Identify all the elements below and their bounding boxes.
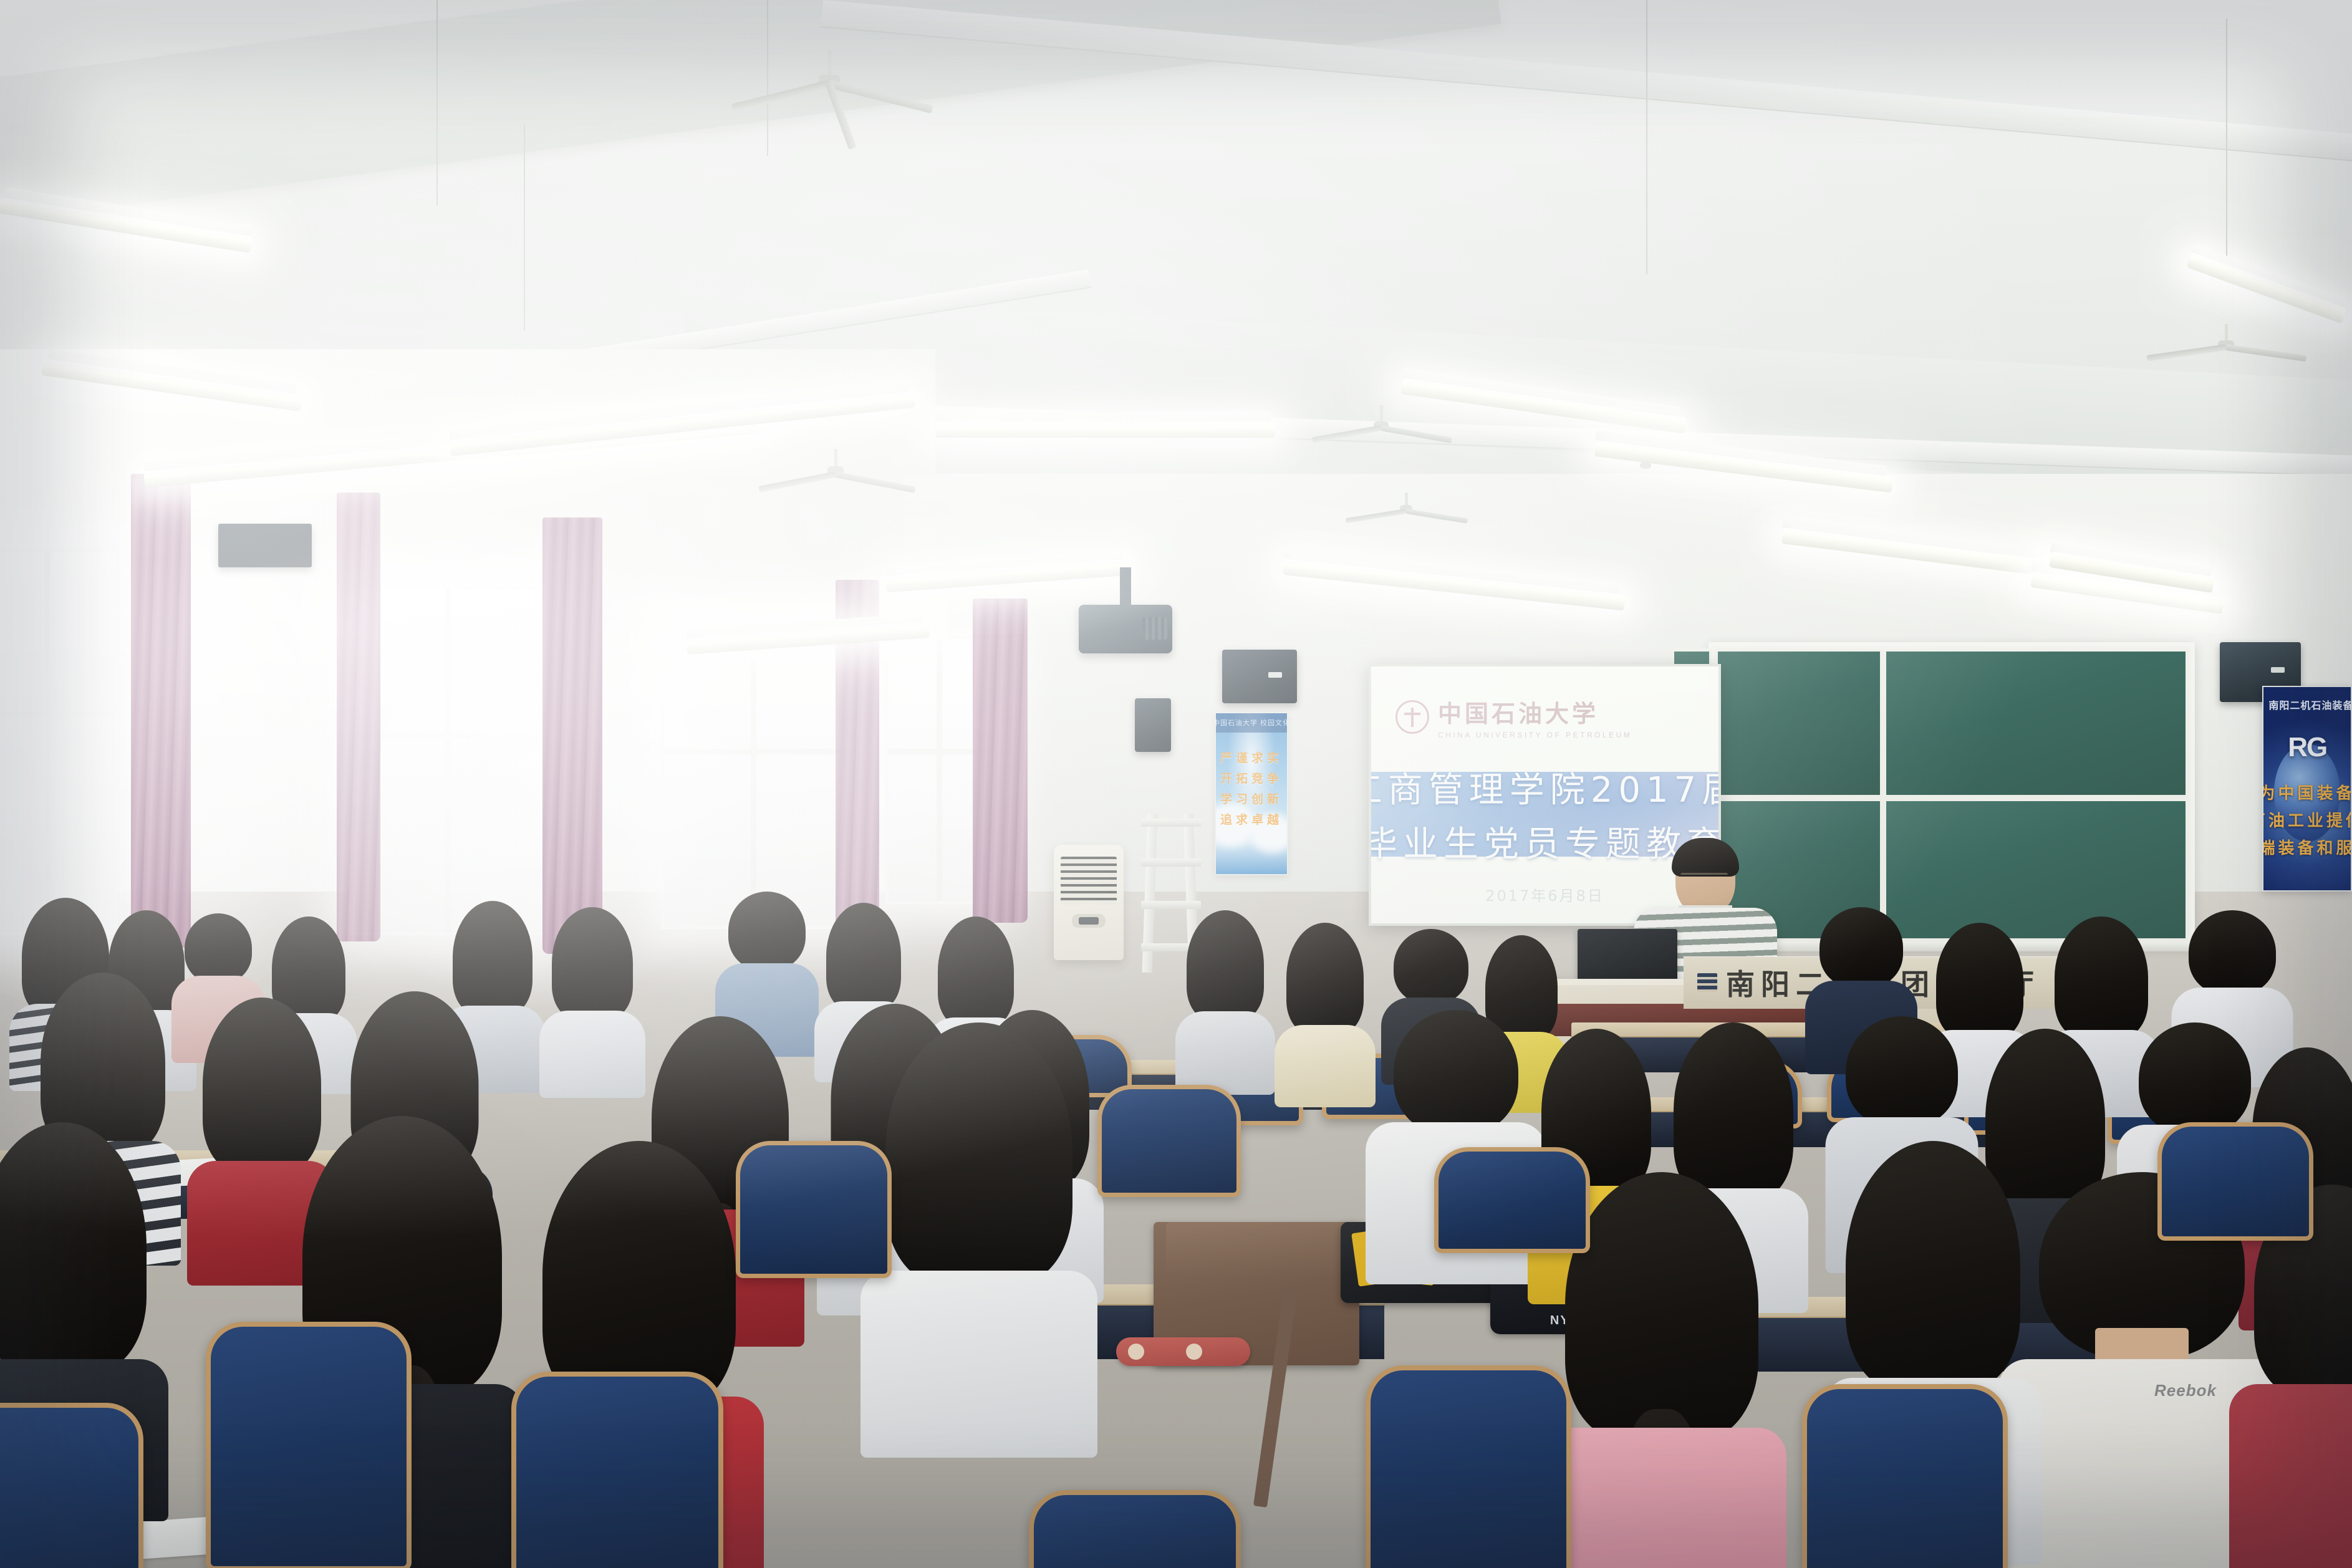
ceiling-fan-5 [1359, 493, 1453, 549]
presenter-hair [1672, 838, 1739, 877]
person-hair [185, 913, 252, 983]
person-hair [1846, 1016, 1958, 1127]
audience-person-far-10 [1185, 910, 1266, 1060]
chair-front-6[interactable] [1029, 1490, 1241, 1568]
university-crest-icon [1395, 700, 1429, 734]
ladder-step [1141, 901, 1201, 909]
wall-speaker-center [1135, 698, 1171, 752]
projector-lens [1142, 617, 1167, 640]
light-wire-2 [1646, 0, 1647, 274]
air-conditioner [1054, 845, 1124, 960]
chair-mid-1[interactable] [736, 1141, 892, 1278]
slide-logo-text: 中国石油大学 CHINA UNIVERSITY OF PETROLEUM [1438, 695, 1632, 739]
poster-campus-culture: 中国石油大学 校园文化 严谨求实 开拓竞争 学习创新 追求卓越 [1215, 712, 1288, 875]
ac-vents [1061, 857, 1117, 905]
light-wire-4 [524, 125, 525, 330]
ceiling-fan-2 [779, 449, 892, 517]
audience-person-front-4 [879, 1022, 1079, 1409]
person-hair [1819, 907, 1903, 988]
poster-rg-equipment: 南阳二机石油装备（集团） RG 为中国装备 石油工业提供 高端装备和服务 [2262, 686, 2352, 892]
person-hair [1394, 929, 1468, 1004]
projector-mount [1120, 567, 1131, 606]
wall-speaker-left [1222, 650, 1297, 703]
poster-right-brand-big: RG [2288, 732, 2326, 763]
person-body [1175, 1011, 1275, 1095]
chair-mid-4[interactable] [2157, 1122, 2313, 1241]
blackboard-panel-1 [1715, 648, 1883, 798]
fluorescent-tube-14 [935, 421, 1275, 438]
poster-right-lines: 为中国装备 石油工业提供 高端装备和服务 [2263, 781, 2351, 859]
chair-mid-3[interactable] [1434, 1147, 1590, 1253]
poster-right-line-2: 石油工业提供 [2262, 808, 2352, 831]
person-body [860, 1271, 1097, 1458]
ceiling-fan-3 [1328, 405, 1434, 468]
curtain-1 [131, 474, 191, 948]
audience-person-far-6 [549, 907, 636, 1063]
wire-anchor-1 [1640, 461, 1651, 469]
chair-front-3[interactable] [1366, 1365, 1571, 1568]
poster-left-line-1: 严谨求实 [1220, 749, 1283, 766]
light-housing-14 [935, 411, 1272, 421]
person-hair [0, 1122, 147, 1372]
person-body [1537, 1428, 1786, 1568]
person-hair [552, 907, 633, 1019]
light-wire-3 [2226, 19, 2227, 256]
person-hair [826, 903, 901, 1010]
person-body [2229, 1384, 2352, 1568]
poster-left-line-2: 开拓竞争 [1220, 769, 1283, 786]
ac-control-panel [1072, 914, 1106, 928]
poster-left-header: 中国石油大学 校园文化 [1216, 713, 1287, 733]
person-hair [542, 1141, 736, 1409]
nameplate-logo-icon [1697, 973, 1717, 992]
bag-flap [1166, 1222, 1347, 1279]
speaker-led [1268, 672, 1282, 678]
poster-left-line-4: 追求卓越 [1220, 810, 1283, 827]
poster-left-line-3: 学习创新 [1220, 790, 1283, 807]
lecture-hall-photo: 中国石油大学 CHINA UNIVERSITY OF PETROLEUM 工商管… [0, 0, 2352, 1568]
presenter-glasses [1680, 873, 1728, 883]
person-hair [2055, 916, 2148, 1039]
person-hair [885, 1022, 1072, 1284]
tee-brand-logo: Reebok [2154, 1381, 2217, 1400]
chair-front-5[interactable] [0, 1403, 143, 1568]
chair-front-4[interactable] [1802, 1384, 2008, 1568]
ladder-step [1141, 859, 1201, 867]
person-body [1275, 1025, 1376, 1107]
curtain-2 [337, 493, 380, 941]
ceiling-projector [1079, 605, 1172, 653]
person-hair [1394, 1010, 1518, 1135]
curtain-3 [542, 517, 602, 954]
chair-mid-2[interactable] [1097, 1085, 1241, 1197]
window-3 [661, 617, 848, 929]
person-hair [2139, 1022, 2251, 1135]
ceiling-fan-1 [767, 50, 892, 125]
poster-right-brand-small: 南阳二机石油装备（集团） [2268, 697, 2352, 712]
wall-speaker-far-left [218, 524, 312, 567]
audience-person-front-7 [2245, 1185, 2352, 1568]
blackboard-panel-2 [1883, 648, 2189, 798]
ladder-step [1141, 819, 1201, 827]
person-hair [1187, 910, 1264, 1020]
light-wire-1 [436, 0, 438, 206]
slide-org-en: CHINA UNIVERSITY OF PETROLEUM [1438, 731, 1632, 739]
curtain-5 [973, 599, 1028, 923]
person-hair [1846, 1141, 2020, 1390]
slide-university-logo: 中国石油大学 CHINA UNIVERSITY OF PETROLEUM [1395, 695, 1632, 739]
audience-person-far-11 [1284, 923, 1366, 1072]
person-body [539, 1011, 645, 1098]
person-hair [2189, 910, 2276, 995]
person-hair [1286, 923, 1364, 1034]
person-hair [1565, 1172, 1758, 1440]
poster-left-lines: 严谨求实 开拓竞争 学习创新 追求卓越 [1216, 749, 1287, 827]
person-hair [728, 892, 806, 970]
slide-title-line-1: 工商管理学院2017届 [1369, 762, 1721, 812]
chair-front-2[interactable] [511, 1372, 723, 1568]
poster-right-line-1: 为中国装备 [2262, 781, 2352, 804]
poster-right-line-3: 高端装备和服务 [2262, 835, 2352, 859]
window-1 [0, 549, 118, 935]
chair-front-1[interactable] [206, 1322, 412, 1568]
slide-org-cn: 中国石油大学 [1438, 695, 1632, 729]
speaker-led [2271, 667, 2285, 673]
red-pencil-case [1116, 1337, 1250, 1366]
ceiling-fan-4 [2170, 324, 2282, 387]
